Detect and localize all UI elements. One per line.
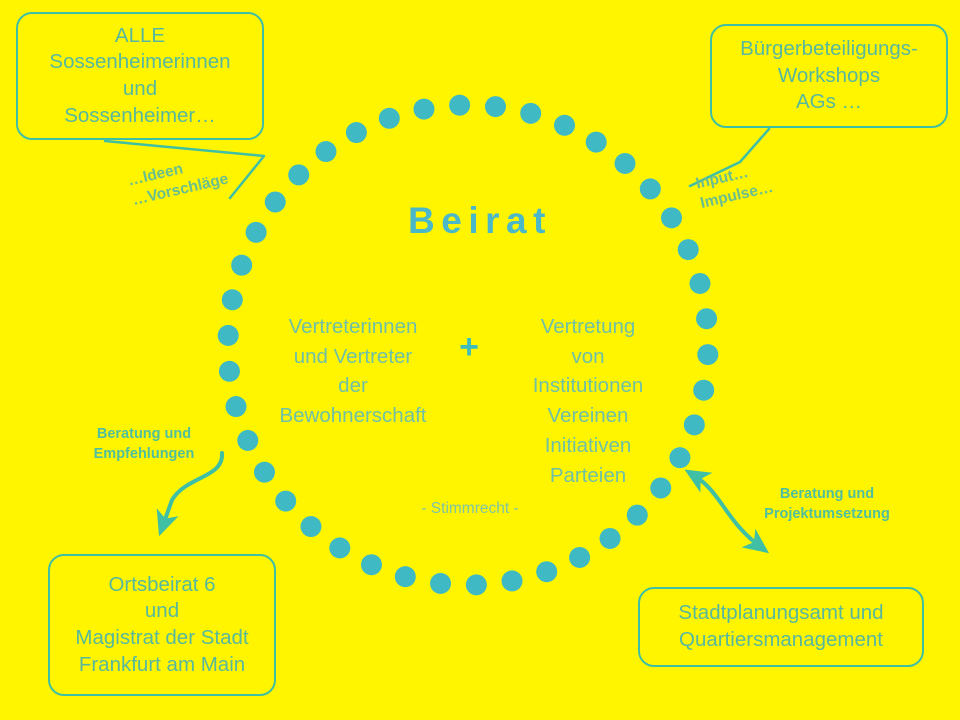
plus-icon: + xyxy=(447,330,491,364)
circle-dot xyxy=(600,528,621,549)
circle-dot xyxy=(301,516,322,537)
arrow-label-beratung-empfehlungen: Beratung und Empfehlungen xyxy=(76,425,212,464)
circle-dot xyxy=(640,178,661,199)
circle-dot xyxy=(569,547,590,568)
circle-dot xyxy=(536,561,557,582)
circle-dot xyxy=(329,537,350,558)
circle-dot xyxy=(379,108,400,129)
callout-workshops[interactable]: Bürgerbeteiligungs- Workshops AGs … xyxy=(710,24,948,128)
circle-dot xyxy=(413,99,434,120)
circle-dot xyxy=(615,153,636,174)
circle-dot xyxy=(219,361,240,382)
callout-residents[interactable]: ALLE Sossenheimerinnen und Sossenheimer… xyxy=(16,12,264,140)
circle-dot xyxy=(520,103,541,124)
circle-dot xyxy=(222,289,243,310)
circle-dot xyxy=(449,95,470,116)
circle-dot xyxy=(237,430,258,451)
circle-dot xyxy=(361,554,382,575)
box-ortsbeirat[interactable]: Ortsbeirat 6 und Magistrat der Stadt Fra… xyxy=(48,554,276,696)
circle-dot xyxy=(502,570,523,591)
center-column-right: Vertretung von Institutionen Vereinen In… xyxy=(500,312,676,490)
circle-dot xyxy=(218,325,239,346)
arrow-label-beratung-projektumsetzung: Beratung und Projektumsetzung xyxy=(742,485,912,524)
box-ortsbeirat-text: Ortsbeirat 6 und Magistrat der Stadt Fra… xyxy=(60,572,264,679)
circle-dot xyxy=(226,396,247,417)
box-stadtplanung[interactable]: Stadtplanungsamt und Quartiersmanagement xyxy=(638,587,924,667)
stimmrecht-note: - Stimmrecht - xyxy=(330,500,610,518)
circle-dot xyxy=(430,573,451,594)
circle-dot xyxy=(466,574,487,595)
arrow-beratung-empfehlungen xyxy=(162,453,222,528)
diagram-canvas: ALLE Sossenheimerinnen und Sossenheimer…… xyxy=(0,0,960,720)
circle-dot xyxy=(697,344,718,365)
circle-dot xyxy=(693,380,714,401)
center-column-left: Vertreterinnen und Vertreter der Bewohne… xyxy=(268,312,438,431)
circle-dot xyxy=(696,308,717,329)
circle-dot xyxy=(315,141,336,162)
circle-dot xyxy=(689,273,710,294)
callout-workshops-text: Bürgerbeteiligungs- Workshops AGs … xyxy=(722,36,936,116)
circle-dot xyxy=(627,505,648,526)
circle-dot xyxy=(275,491,296,512)
circle-dot xyxy=(678,239,699,260)
circle-dot xyxy=(485,96,506,117)
box-stadtplanung-text: Stadtplanungsamt und Quartiersmanagement xyxy=(650,600,912,653)
circle-dot xyxy=(684,414,705,435)
page-title: Beirat xyxy=(0,200,960,242)
circle-dot xyxy=(586,132,607,153)
callout-residents-text: ALLE Sossenheimerinnen und Sossenheimer… xyxy=(28,23,252,130)
circle-dot xyxy=(395,566,416,587)
circle-dot xyxy=(231,255,252,276)
circle-dot xyxy=(288,164,309,185)
circle-dot xyxy=(254,462,275,483)
circle-dot xyxy=(346,122,367,143)
circle-dot xyxy=(554,115,575,136)
